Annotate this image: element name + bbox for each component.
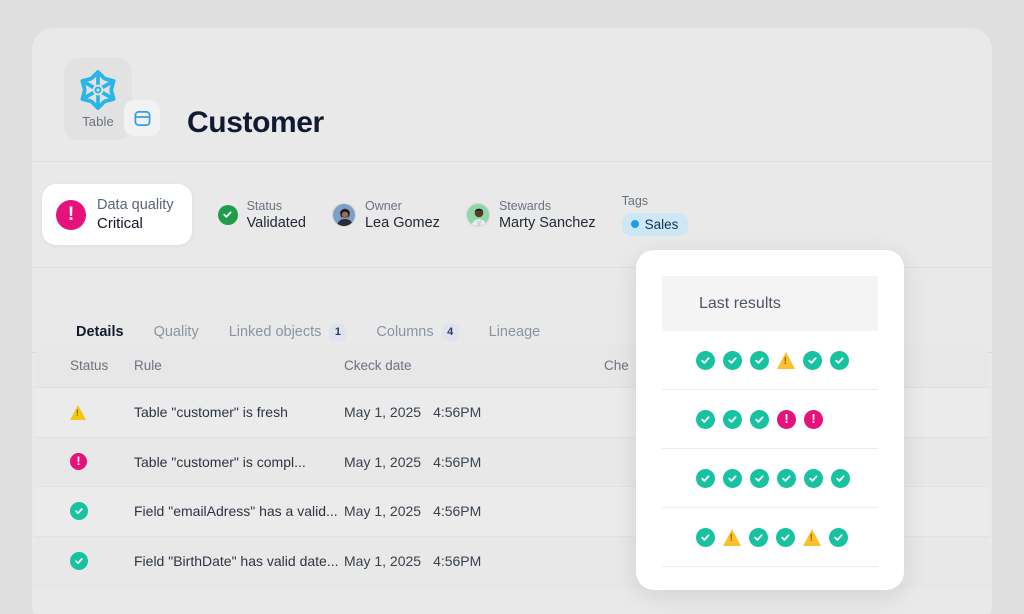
check-circle-icon [831, 469, 850, 488]
critical-icon: ! [777, 410, 796, 429]
row-date-cell: May 1, 2025 4:56PM [344, 454, 604, 470]
row-status-cell [34, 405, 134, 420]
tags-label: Tags [622, 194, 689, 208]
row-date: May 1, 2025 [344, 503, 421, 519]
row-time: 4:56PM [433, 553, 481, 569]
check-circle-icon [829, 528, 848, 547]
check-circle-icon [776, 528, 795, 547]
check-circle-icon [696, 410, 715, 429]
row-time: 4:56PM [433, 454, 481, 470]
row-rule-cell: Table "customer" is fresh [134, 404, 344, 420]
row-rule-cell: Field "BirthDate" has valid date... [134, 553, 344, 569]
warning-icon [723, 529, 741, 546]
warning-icon [803, 529, 821, 546]
row-status-cell: ! [34, 453, 134, 470]
critical-icon: ! [70, 453, 87, 470]
check-circle-icon [723, 410, 742, 429]
column-header-status[interactable]: Status [34, 358, 134, 373]
warning-icon [777, 352, 795, 369]
check-circle-icon [723, 469, 742, 488]
critical-icon: ! [56, 200, 86, 230]
row-date: May 1, 2025 [344, 454, 421, 470]
check-circle-icon [803, 351, 822, 370]
steward-avatar [466, 203, 490, 227]
check-circle-icon [696, 528, 715, 547]
column-header-rule[interactable]: Rule [134, 358, 344, 373]
row-date: May 1, 2025 [344, 553, 421, 569]
status-item[interactable]: Status Validated [218, 199, 306, 231]
tab-columns-badge: 4 [442, 324, 459, 341]
tag-chip-sales[interactable]: Sales [622, 213, 689, 236]
page-header: Table Customer [32, 28, 992, 162]
warning-icon [70, 405, 86, 420]
check-circle-icon [750, 469, 769, 488]
row-date: May 1, 2025 [344, 404, 421, 420]
stewards-item[interactable]: Stewards Marty Sanchez [466, 199, 596, 231]
row-rule-cell: Table "customer" is compl... [134, 454, 344, 470]
data-quality-card[interactable]: ! Data quality Critical [42, 184, 192, 245]
check-circle-icon [749, 528, 768, 547]
row-status-cell [34, 502, 134, 520]
check-circle-icon [804, 469, 823, 488]
last-results-rows: !! [636, 331, 904, 567]
row-time: 4:56PM [433, 503, 481, 519]
last-results-row [662, 449, 878, 508]
row-time: 4:56PM [433, 404, 481, 420]
tab-quality-label: Quality [154, 324, 199, 340]
row-rule-cell: Field "emailAdress" has a valid... [134, 503, 344, 519]
snowflake-icon [76, 68, 120, 112]
check-circle-icon [777, 469, 796, 488]
tags-item[interactable]: Tags Sales [622, 194, 689, 236]
status-value: Validated [247, 215, 306, 231]
tab-lineage-label: Lineage [489, 324, 541, 340]
page-title: Customer [187, 106, 324, 140]
entity-type-label: Table [82, 114, 114, 129]
row-status-cell [34, 552, 134, 570]
entity-type-badge: Table [64, 58, 132, 140]
check-circle-icon [830, 351, 849, 370]
critical-icon: ! [804, 410, 823, 429]
check-circle-icon [750, 410, 769, 429]
check-circle-icon [218, 205, 238, 225]
check-circle-icon [723, 351, 742, 370]
column-header-check-date[interactable]: Ckeck date [344, 358, 604, 373]
tab-linked-objects-badge: 1 [329, 324, 346, 341]
row-date-cell: May 1, 2025 4:56PM [344, 503, 604, 519]
last-results-row [662, 508, 878, 567]
check-circle-icon [70, 552, 88, 570]
stewards-value: Marty Sanchez [499, 215, 596, 231]
database-icon-chip [124, 100, 160, 136]
check-circle-icon [750, 351, 769, 370]
check-circle-icon [70, 502, 88, 520]
tag-dot-icon [631, 220, 639, 228]
data-quality-value: Critical [97, 215, 174, 232]
last-results-row: !! [662, 390, 878, 449]
tag-label: Sales [645, 217, 679, 232]
check-circle-icon [696, 351, 715, 370]
owner-value: Lea Gomez [365, 215, 440, 231]
owner-label: Owner [365, 199, 440, 213]
tab-columns-label: Columns [376, 324, 433, 340]
tab-details-label: Details [76, 324, 124, 340]
row-date-cell: May 1, 2025 4:56PM [344, 553, 604, 569]
data-quality-label: Data quality [97, 197, 174, 213]
check-circle-icon [696, 469, 715, 488]
stewards-label: Stewards [499, 199, 596, 213]
last-results-title: Last results [662, 276, 878, 331]
last-results-panel: Last results !! [636, 250, 904, 590]
tab-linked-objects-label: Linked objects [229, 324, 322, 340]
status-label: Status [247, 199, 306, 213]
owner-avatar [332, 203, 356, 227]
owner-item[interactable]: Owner Lea Gomez [332, 199, 440, 231]
row-date-cell: May 1, 2025 4:56PM [344, 404, 604, 420]
last-results-row [662, 331, 878, 390]
database-icon [133, 109, 152, 128]
